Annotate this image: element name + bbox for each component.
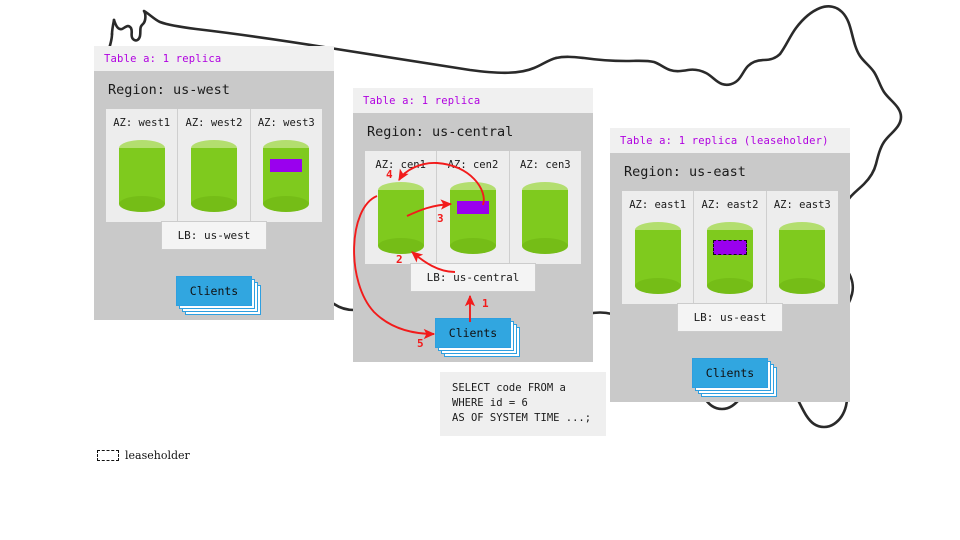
cylinder-bottom-icon xyxy=(450,238,496,254)
az-label-west2: AZ: west2 xyxy=(178,117,249,129)
az-label-cen2: AZ: cen2 xyxy=(437,159,508,171)
region-title-us-west: Table a: 1 replica xyxy=(94,46,334,71)
az-west1[interactable]: AZ: west1 xyxy=(106,109,177,222)
region-title-us-central: Table a: 1 replica xyxy=(353,88,593,113)
load-balancer-us-central[interactable]: LB: us-central xyxy=(410,263,537,292)
region-name-us-east: Region: us-east xyxy=(622,153,838,191)
node-cylinder-east3[interactable] xyxy=(779,222,825,294)
cylinder-bottom-icon xyxy=(191,196,237,212)
cylinder-bottom-icon xyxy=(635,278,681,294)
az-west3[interactable]: AZ: west3 xyxy=(250,109,322,222)
az-label-cen3: AZ: cen3 xyxy=(510,159,581,171)
sql-query-box: SELECT code FROM a WHERE id = 6 AS OF SY… xyxy=(440,372,606,436)
node-cylinder-cen2[interactable] xyxy=(450,182,496,254)
clients-group-us-west: Clients xyxy=(176,276,252,306)
flow-label-4: 4 xyxy=(386,168,393,181)
az-east1[interactable]: AZ: east1 xyxy=(622,191,693,304)
az-label-cen1: AZ: cen1 xyxy=(365,159,436,171)
cylinder-bottom-icon xyxy=(779,278,825,294)
az-east2[interactable]: AZ: east2 xyxy=(693,191,765,304)
load-balancer-us-east[interactable]: LB: us-east xyxy=(677,303,784,332)
region-card-us-east: Table a: 1 replica (leaseholder) Region:… xyxy=(610,128,850,402)
region-card-us-west: Table a: 1 replica Region: us-west AZ: w… xyxy=(94,46,334,320)
clients-stack-us-west: Clients xyxy=(176,276,252,306)
az-strip-us-east: AZ: east1 AZ: east2 xyxy=(622,191,838,304)
replica-marker-west3 xyxy=(270,159,302,172)
node-cylinder-west2[interactable] xyxy=(191,140,237,212)
clients-box-us-east[interactable]: Clients xyxy=(692,358,768,388)
flow-label-3: 3 xyxy=(437,212,444,225)
clients-group-us-east: Clients xyxy=(692,358,768,388)
region-title-us-east: Table a: 1 replica (leaseholder) xyxy=(610,128,850,153)
az-strip-us-west: AZ: west1 AZ: west2 AZ xyxy=(106,109,322,222)
legend-leaseholder: leaseholder xyxy=(97,449,190,462)
node-cylinder-cen3[interactable] xyxy=(522,182,568,254)
node-cylinder-east2[interactable] xyxy=(707,222,753,294)
az-cen1[interactable]: AZ: cen1 xyxy=(365,151,436,264)
region-card-us-central: Table a: 1 replica Region: us-central AZ… xyxy=(353,88,593,362)
cylinder-bottom-icon xyxy=(378,238,424,254)
node-cylinder-west1[interactable] xyxy=(119,140,165,212)
clients-group-us-central: Clients xyxy=(435,318,511,348)
load-balancer-us-west[interactable]: LB: us-west xyxy=(161,221,268,250)
az-label-west1: AZ: west1 xyxy=(106,117,177,129)
az-cen3[interactable]: AZ: cen3 xyxy=(509,151,581,264)
region-body-us-central: Region: us-central AZ: cen1 AZ: cen2 xyxy=(353,113,593,362)
node-cylinder-west3[interactable] xyxy=(263,140,309,212)
legend-label: leaseholder xyxy=(125,449,190,462)
az-label-east3: AZ: east3 xyxy=(767,199,838,211)
clients-box-us-central[interactable]: Clients xyxy=(435,318,511,348)
clients-stack-us-central: Clients xyxy=(435,318,511,348)
cylinder-bottom-icon xyxy=(707,278,753,294)
cylinder-bottom-icon xyxy=(263,196,309,212)
az-label-east2: AZ: east2 xyxy=(694,199,765,211)
dashed-rect-icon xyxy=(97,450,119,461)
node-cylinder-cen1[interactable] xyxy=(378,182,424,254)
leaseholder-replica-marker-east2 xyxy=(713,240,747,255)
flow-label-1: 1 xyxy=(482,297,489,310)
region-body-us-east: Region: us-east AZ: east1 AZ: east2 xyxy=(610,153,850,402)
az-strip-us-central: AZ: cen1 AZ: cen2 xyxy=(365,151,581,264)
cylinder-bottom-icon xyxy=(522,238,568,254)
region-name-us-central: Region: us-central xyxy=(365,113,581,151)
replica-marker-cen2 xyxy=(457,201,489,214)
flow-label-5: 5 xyxy=(417,337,424,350)
az-cen2[interactable]: AZ: cen2 xyxy=(436,151,508,264)
clients-stack-us-east: Clients xyxy=(692,358,768,388)
az-east3[interactable]: AZ: east3 xyxy=(766,191,838,304)
az-label-west3: AZ: west3 xyxy=(251,117,322,129)
clients-box-us-west[interactable]: Clients xyxy=(176,276,252,306)
region-body-us-west: Region: us-west AZ: west1 AZ: west2 xyxy=(94,71,334,320)
cylinder-bottom-icon xyxy=(119,196,165,212)
diagram-canvas: Table a: 1 replica Region: us-west AZ: w… xyxy=(0,0,960,540)
az-label-east1: AZ: east1 xyxy=(622,199,693,211)
node-cylinder-east1[interactable] xyxy=(635,222,681,294)
az-west2[interactable]: AZ: west2 xyxy=(177,109,249,222)
flow-label-2: 2 xyxy=(396,253,403,266)
region-name-us-west: Region: us-west xyxy=(106,71,322,109)
